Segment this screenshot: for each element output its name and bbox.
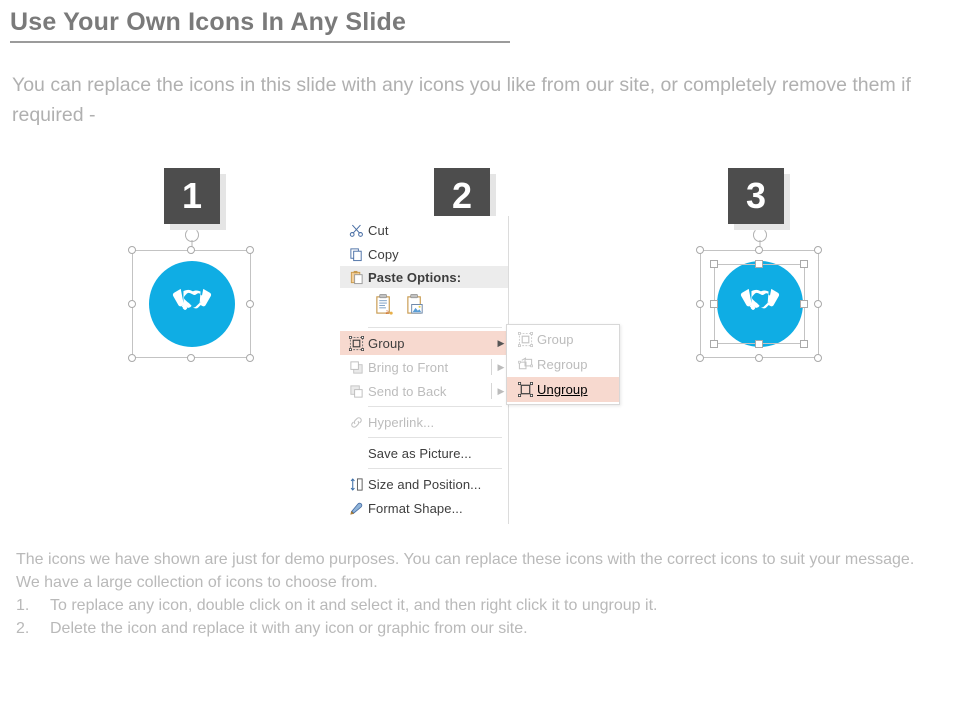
icon-selection-stage-1[interactable] bbox=[132, 228, 252, 358]
list-item-number: 2. bbox=[16, 617, 44, 640]
paste-options-icon-row[interactable]: a bbox=[340, 288, 508, 324]
paste-icon bbox=[344, 270, 368, 285]
format-shape-icon bbox=[344, 501, 368, 516]
resize-handle[interactable] bbox=[814, 246, 822, 254]
menu-item-label: Format Shape... bbox=[368, 501, 508, 516]
menu-item-copy[interactable]: Copy bbox=[340, 242, 508, 266]
icon-selection-stage-3[interactable] bbox=[700, 228, 820, 358]
menu-item-label: Send to Back bbox=[368, 384, 494, 399]
resize-handle[interactable] bbox=[187, 354, 195, 362]
paste-picture-icon[interactable] bbox=[405, 293, 426, 319]
bring-to-front-icon bbox=[344, 360, 368, 375]
resize-handle[interactable] bbox=[696, 246, 704, 254]
menu-item-label: Save as Picture... bbox=[368, 446, 508, 461]
resize-handle[interactable] bbox=[246, 300, 254, 308]
handshake-icon bbox=[167, 283, 217, 325]
menu-item-format-shape[interactable]: Format Shape... bbox=[340, 496, 508, 520]
menu-item-bring-to-front[interactable]: Bring to Front ▶ bbox=[340, 355, 508, 379]
group-icon bbox=[513, 332, 537, 347]
menu-item-label: Paste Options: bbox=[368, 270, 508, 285]
submenu-item-label: Ungroup bbox=[537, 382, 619, 397]
title-underline bbox=[10, 41, 510, 43]
submenu-item-label: Regroup bbox=[537, 357, 619, 372]
menu-item-label: Cut bbox=[368, 223, 508, 238]
menu-separator bbox=[368, 327, 502, 328]
paste-keep-text-icon[interactable]: a bbox=[374, 293, 395, 319]
list-item: 2. Delete the icon and replace it with a… bbox=[16, 617, 946, 640]
notes-paragraph: The icons we have shown are just for dem… bbox=[16, 548, 936, 594]
menu-item-group[interactable]: Group ▶ bbox=[340, 331, 508, 355]
menu-item-label: Copy bbox=[368, 247, 508, 262]
menu-item-paste-options: Paste Options: bbox=[340, 266, 508, 288]
list-item-text: Delete the icon and replace it with any … bbox=[50, 617, 528, 640]
inner-resize-handle[interactable] bbox=[710, 300, 718, 308]
resize-handle[interactable] bbox=[814, 354, 822, 362]
hyperlink-icon bbox=[344, 415, 368, 430]
step-number-badge-3: 3 bbox=[728, 168, 784, 224]
svg-text:a: a bbox=[385, 307, 389, 316]
inner-resize-handle[interactable] bbox=[755, 260, 763, 268]
inner-resize-handle[interactable] bbox=[800, 260, 808, 268]
menu-item-save-as-picture[interactable]: Save as Picture... bbox=[340, 441, 508, 465]
menu-item-label: Hyperlink... bbox=[368, 415, 508, 430]
inner-resize-handle[interactable] bbox=[755, 340, 763, 348]
scissors-icon bbox=[344, 223, 368, 238]
menu-item-label: Size and Position... bbox=[368, 477, 508, 492]
resize-handle[interactable] bbox=[814, 300, 822, 308]
menu-item-hyperlink[interactable]: Hyperlink... bbox=[340, 410, 508, 434]
menu-item-send-to-back[interactable]: Send to Back ▶ bbox=[340, 379, 508, 403]
resize-handle[interactable] bbox=[128, 300, 136, 308]
selection-box-inner-3[interactable] bbox=[714, 264, 805, 344]
inner-resize-handle[interactable] bbox=[710, 340, 718, 348]
menu-item-cut[interactable]: Cut bbox=[340, 218, 508, 242]
resize-handle[interactable] bbox=[696, 300, 704, 308]
inner-resize-handle[interactable] bbox=[800, 300, 808, 308]
resize-handle[interactable] bbox=[755, 354, 763, 362]
list-item-text: To replace any icon, double click on it … bbox=[50, 594, 657, 617]
menu-item-size-and-position[interactable]: Size and Position... bbox=[340, 472, 508, 496]
ungroup-icon bbox=[513, 382, 537, 397]
resize-handle[interactable] bbox=[696, 354, 704, 362]
handshake-icon-circle-1[interactable] bbox=[149, 261, 235, 347]
inner-resize-handle[interactable] bbox=[710, 260, 718, 268]
group-icon bbox=[344, 336, 368, 351]
submenu-item-group[interactable]: Group bbox=[507, 327, 619, 352]
context-menu[interactable]: Cut Copy Paste Options: bbox=[340, 216, 509, 524]
group-submenu[interactable]: Group Regroup bbox=[506, 324, 620, 405]
menu-separator bbox=[368, 437, 502, 438]
inner-resize-handle[interactable] bbox=[800, 340, 808, 348]
resize-handle[interactable] bbox=[755, 246, 763, 254]
menu-separator bbox=[368, 406, 502, 407]
size-position-icon bbox=[344, 477, 368, 492]
copy-icon bbox=[344, 247, 368, 262]
resize-handle[interactable] bbox=[246, 246, 254, 254]
notes-block: The icons we have shown are just for dem… bbox=[16, 548, 946, 640]
menu-separator bbox=[368, 468, 502, 469]
notes-list: 1. To replace any icon, double click on … bbox=[16, 594, 946, 640]
submenu-item-label: Group bbox=[537, 332, 619, 347]
send-to-back-icon bbox=[344, 384, 368, 399]
list-item-number: 1. bbox=[16, 594, 44, 617]
resize-handle[interactable] bbox=[187, 246, 195, 254]
intro-paragraph: You can replace the icons in this slide … bbox=[12, 70, 956, 130]
submenu-item-regroup[interactable]: Regroup bbox=[507, 352, 619, 377]
submenu-item-ungroup[interactable]: Ungroup bbox=[507, 377, 619, 402]
menu-item-label: Bring to Front bbox=[368, 360, 494, 375]
list-item: 1. To replace any icon, double click on … bbox=[16, 594, 946, 617]
regroup-icon bbox=[513, 357, 537, 372]
resize-handle[interactable] bbox=[246, 354, 254, 362]
step-number-badge-1: 1 bbox=[164, 168, 220, 224]
resize-handle[interactable] bbox=[128, 354, 136, 362]
menu-item-label: Group bbox=[368, 336, 494, 351]
resize-handle[interactable] bbox=[128, 246, 136, 254]
page-title: Use Your Own Icons In Any Slide bbox=[10, 8, 406, 37]
